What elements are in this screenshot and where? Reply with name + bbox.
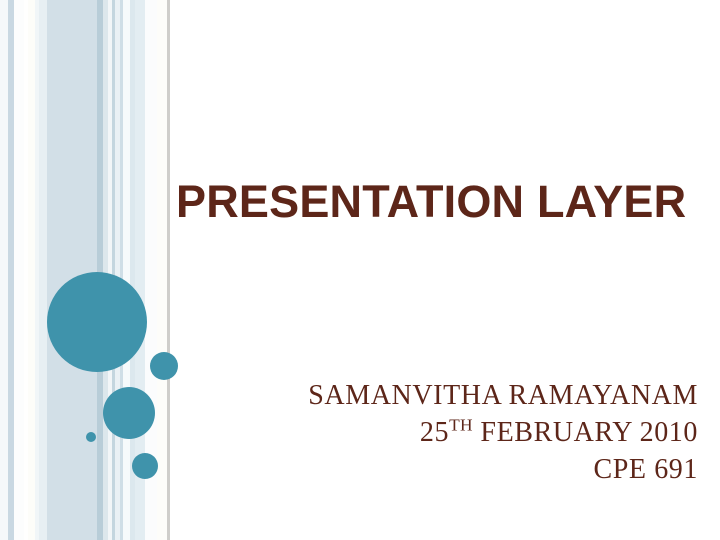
medium-circle bbox=[103, 387, 155, 439]
small-circle-lower-right bbox=[132, 453, 158, 479]
stripe-3 bbox=[14, 0, 24, 540]
course-code: CPE 691 bbox=[228, 452, 698, 489]
stripe-21 bbox=[170, 0, 180, 540]
stripe-10 bbox=[103, 0, 108, 540]
stripe-8 bbox=[47, 0, 97, 540]
stripe-12 bbox=[112, 0, 115, 540]
date-month-year: FEBRUARY 2010 bbox=[473, 417, 698, 448]
stripe-19 bbox=[157, 0, 167, 540]
large-circle bbox=[47, 272, 147, 372]
small-circle-upper-right bbox=[150, 352, 178, 380]
tiny-circle bbox=[86, 432, 96, 442]
date-day-number: 25 bbox=[420, 417, 449, 448]
subtitle-block: SAMANVITHA RAMAYANAM 25TH FEBRUARY 2010 … bbox=[228, 378, 698, 489]
date-ordinal-suffix: TH bbox=[449, 416, 473, 435]
stripe-14 bbox=[120, 0, 123, 540]
stripe-4 bbox=[24, 0, 28, 540]
stripe-5 bbox=[28, 0, 35, 540]
stripe-2 bbox=[8, 0, 14, 540]
stripe-13 bbox=[115, 0, 120, 540]
stripe-6 bbox=[35, 0, 39, 540]
presenter-name: SAMANVITHA RAMAYANAM bbox=[228, 378, 698, 415]
stripe-11 bbox=[108, 0, 112, 540]
presentation-date: 25TH FEBRUARY 2010 bbox=[228, 415, 698, 452]
title-slide: PRESENTATION LAYER SAMANVITHA RAMAYANAM … bbox=[0, 0, 720, 540]
title-block: PRESENTATION LAYER bbox=[176, 178, 686, 225]
stripe-1 bbox=[0, 0, 8, 540]
stripe-15 bbox=[123, 0, 130, 540]
stripe-7 bbox=[39, 0, 47, 540]
stripe-20 bbox=[167, 0, 170, 540]
page-title: PRESENTATION LAYER bbox=[176, 178, 686, 225]
stripe-9 bbox=[97, 0, 103, 540]
